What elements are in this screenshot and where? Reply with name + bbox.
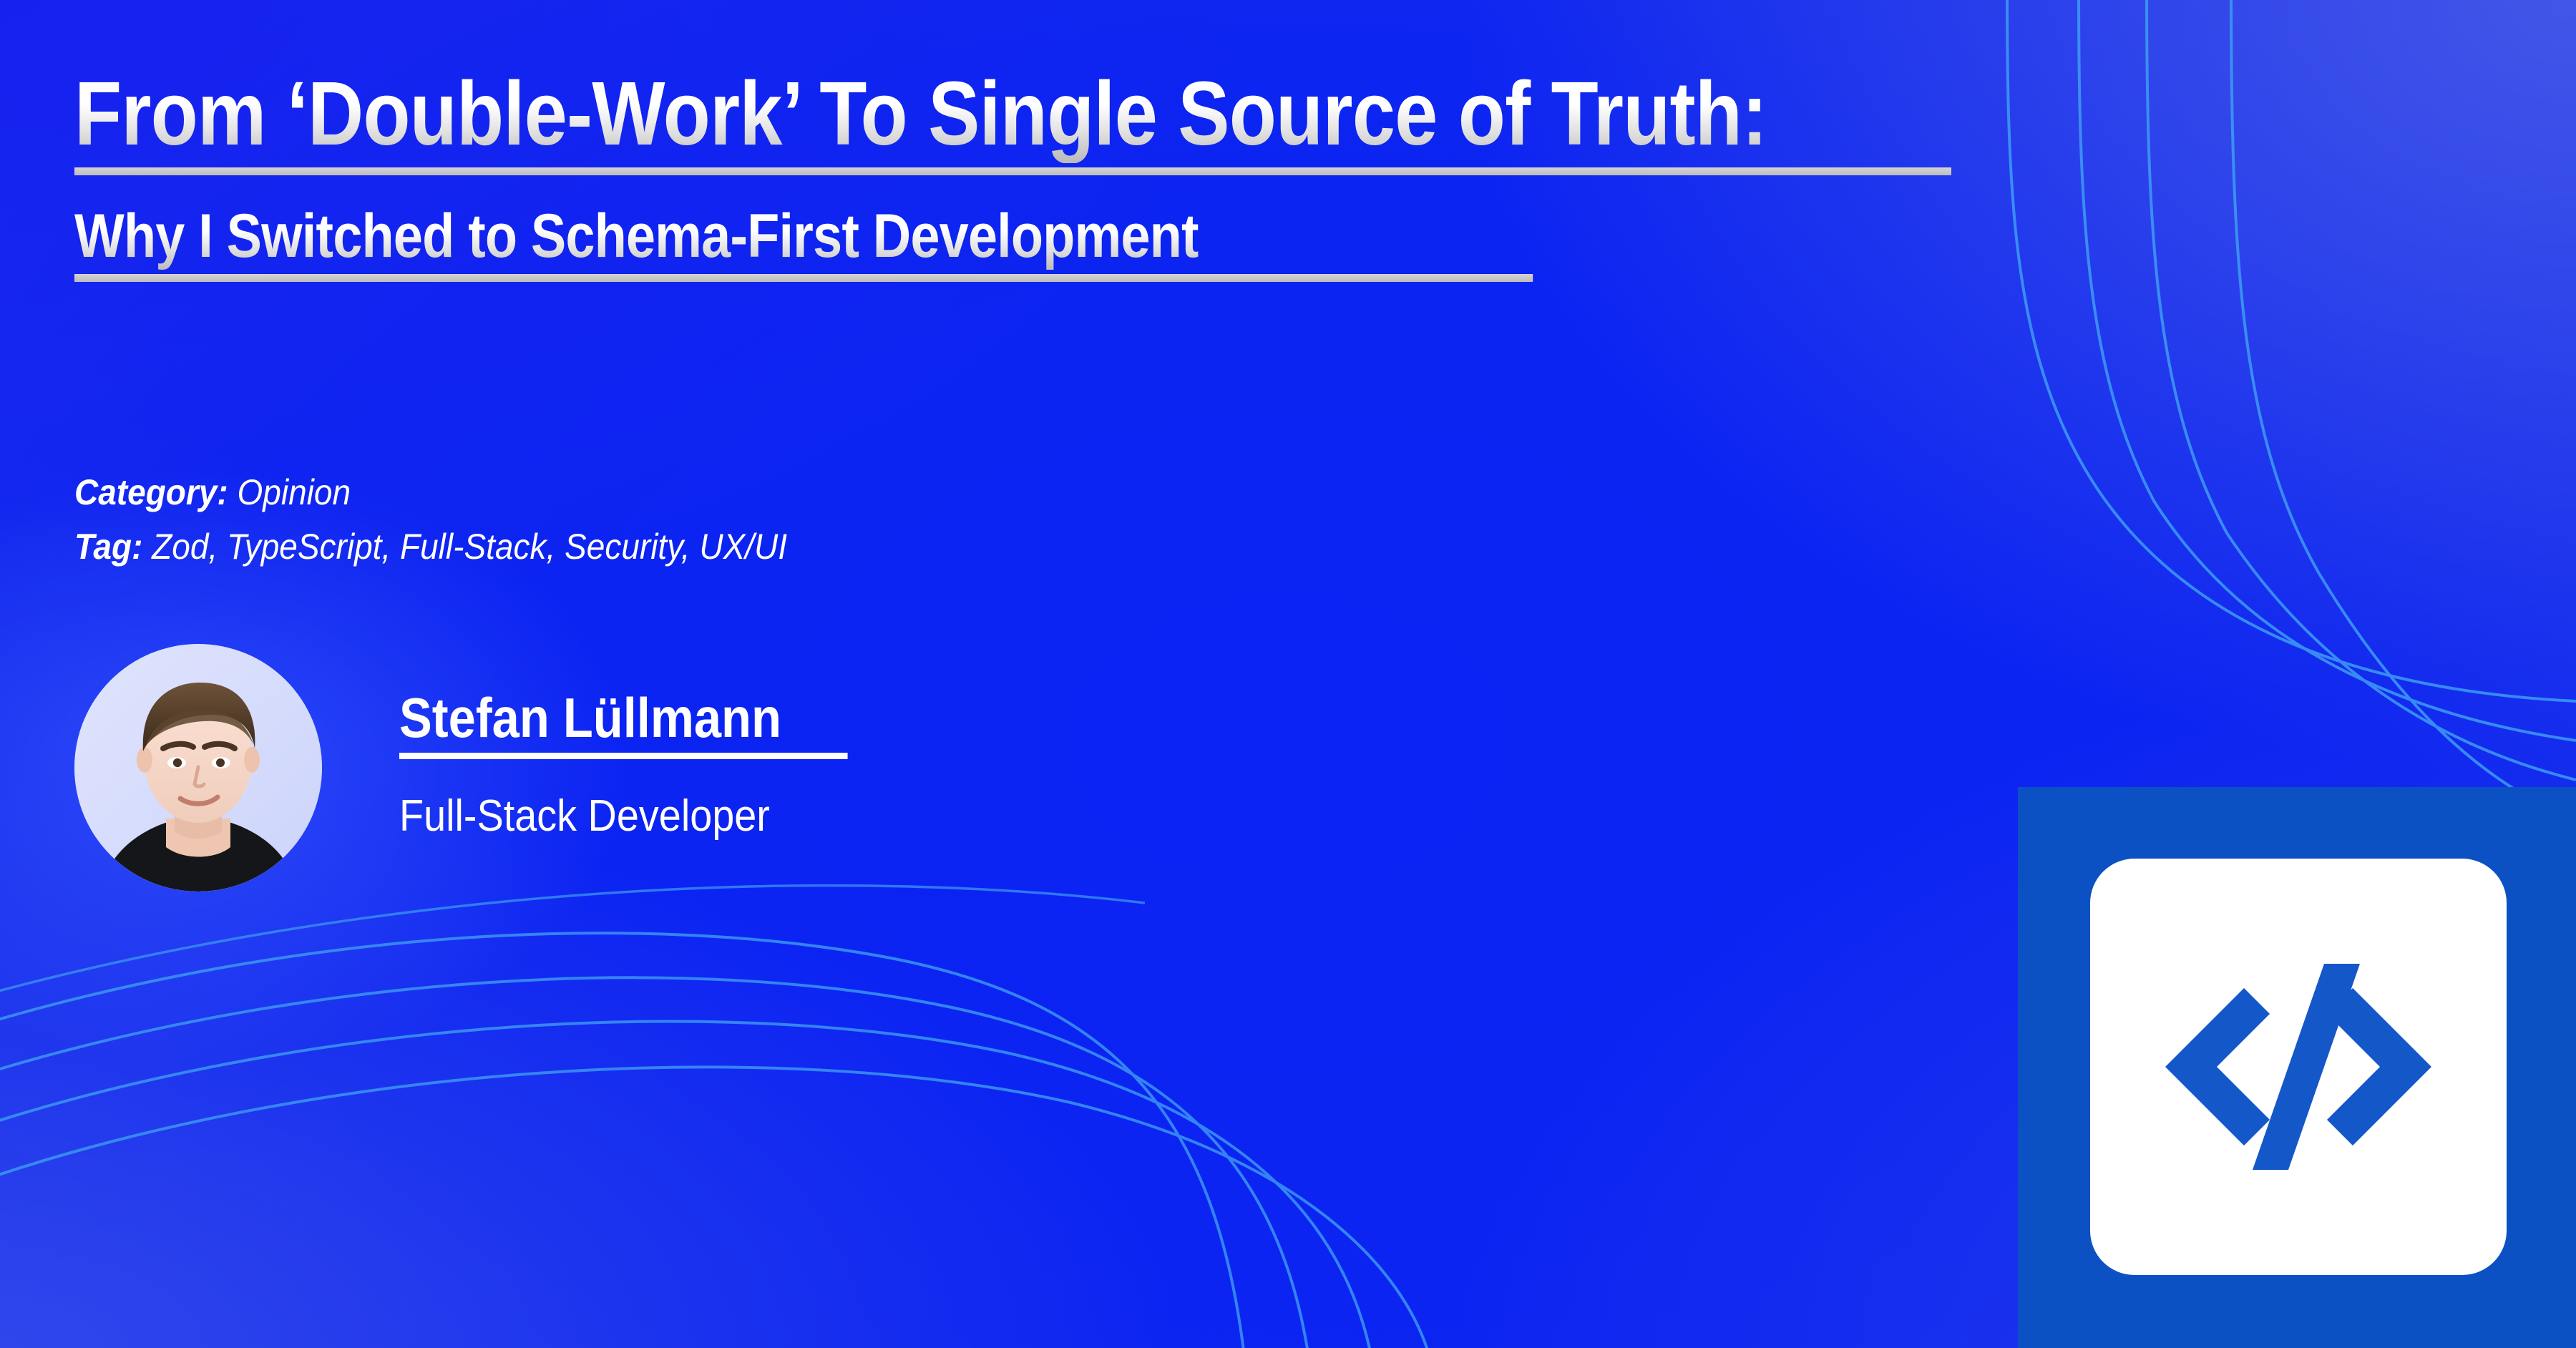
category-row: Category: Opinion	[74, 465, 787, 519]
article-banner: From ‘Double-Work’ To Single Source of T…	[0, 0, 2576, 1348]
author-role: Full-Stack Developer	[399, 791, 858, 841]
page-subtitle: Why I Switched to Schema-First Developme…	[74, 205, 1199, 271]
tag-label: Tag:	[74, 527, 142, 567]
tag-value: Zod, TypeScript, Full-Stack, Security, U…	[152, 527, 787, 567]
meta-block: Category: Opinion Tag: Zod, TypeScript, …	[74, 465, 849, 574]
subtitle-wrap: Why I Switched to Schema-First Developme…	[74, 205, 2407, 282]
headline-block: From ‘Double-Work’ To Single Source of T…	[74, 69, 2407, 282]
author-portrait-icon	[74, 644, 322, 892]
author-name-underline	[399, 753, 848, 759]
code-brackets-icon	[2155, 924, 2441, 1210]
author-block: Stefan Lüllmann Full-Stack Developer	[74, 644, 909, 892]
page-title: From ‘Double-Work’ To Single Source of T…	[74, 69, 1767, 163]
category-label: Category:	[74, 472, 228, 512]
author-name: Stefan Lüllmann	[399, 690, 848, 746]
tag-row: Tag: Zod, TypeScript, Full-Stack, Securi…	[74, 519, 787, 574]
avatar	[74, 644, 322, 892]
code-logo-card	[2090, 859, 2507, 1275]
title-underline	[74, 167, 1951, 175]
subtitle-underline	[74, 274, 1533, 282]
category-value: Opinion	[237, 472, 351, 512]
author-text: Stefan Lüllmann Full-Stack Developer	[399, 690, 909, 846]
